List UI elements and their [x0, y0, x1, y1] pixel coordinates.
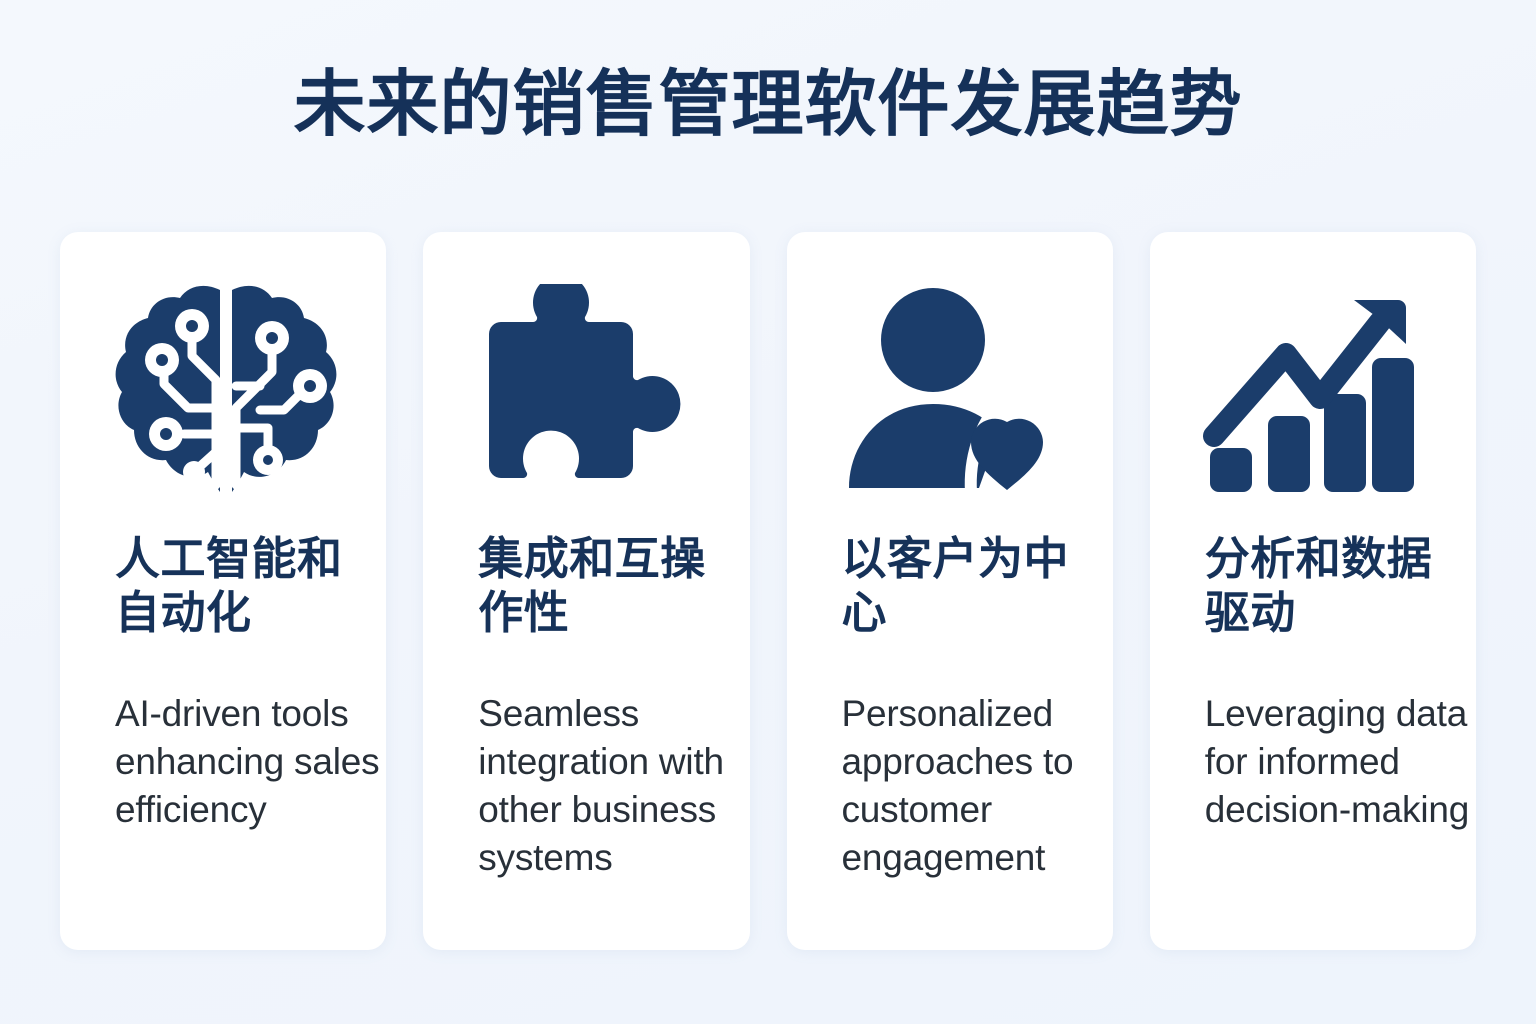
card-customer-centric[interactable]: 以客户为中心 Personalized approaches to custom…	[787, 232, 1113, 950]
card-body-text: Seamless integration with other business…	[478, 690, 747, 882]
card-heading: 分析和数据驱动	[1205, 532, 1468, 640]
puzzle-piece-icon	[475, 278, 705, 506]
person-heart-icon	[839, 278, 1069, 506]
card-body-text: AI-driven tools enhancing sales efficien…	[115, 690, 384, 834]
card-integration[interactable]: 集成和互操作性 Seamless integration with other …	[423, 232, 749, 950]
card-heading: 以客户为中心	[842, 532, 1105, 640]
card-ai-automation[interactable]: 人工智能和自动化 AI-driven tools enhancing sales…	[60, 232, 386, 950]
card-body-text: Personalized approaches to customer enga…	[842, 690, 1111, 882]
card-grid: 人工智能和自动化 AI-driven tools enhancing sales…	[60, 232, 1476, 950]
page-title: 未来的销售管理软件发展趋势	[0, 62, 1536, 148]
card-analytics[interactable]: 分析和数据驱动 Leveraging data for informed dec…	[1150, 232, 1476, 950]
card-heading: 人工智能和自动化	[115, 532, 378, 640]
ai-brain-circuit-icon	[112, 278, 342, 506]
infographic-page: 未来的销售管理软件发展趋势	[0, 0, 1536, 1024]
card-heading: 集成和互操作性	[478, 532, 741, 640]
card-body-text: Leveraging data for informed decision-ma…	[1205, 690, 1482, 834]
growth-bar-chart-icon	[1202, 278, 1432, 506]
